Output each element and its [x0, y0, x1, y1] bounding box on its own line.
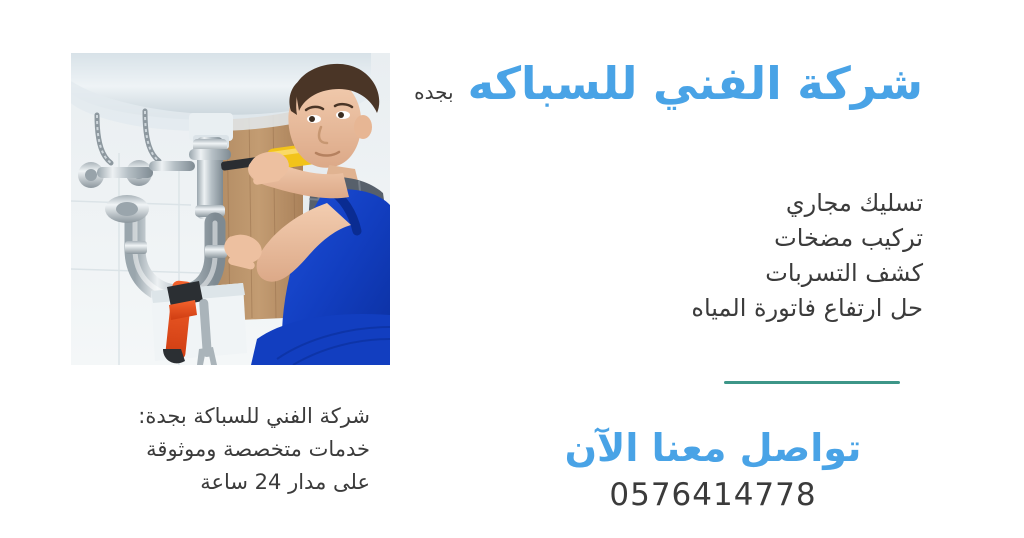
caption-line: على مدار 24 ساعة [50, 466, 370, 499]
service-item: حل ارتفاع فاتورة المياه [503, 291, 923, 326]
section-divider [724, 381, 900, 384]
plumber-under-sink-photo [71, 53, 390, 365]
cta-heading: تواصل معنا الآن [503, 424, 923, 472]
caption-line: شركة الفني للسباكة بجدة: [50, 400, 370, 433]
contact-cta: تواصل معنا الآن 0576414778 [503, 424, 923, 514]
advertisement-canvas: شركة الفني للسباكه بجده تسليك مجاري تركي… [0, 0, 1024, 538]
caption-block: شركة الفني للسباكة بجدة: خدمات متخصصة وم… [50, 400, 370, 499]
caption-line: خدمات متخصصة وموثوقة [50, 433, 370, 466]
service-item: تسليك مجاري [503, 186, 923, 221]
plumber-photo-illustration [71, 53, 390, 365]
company-city: بجده [414, 82, 453, 102]
service-item: كشف التسربات [503, 256, 923, 291]
service-item: تركيب مضخات [503, 221, 923, 256]
company-name: شركة الفني للسباكه [468, 61, 923, 106]
phone-number[interactable]: 0576414778 [503, 476, 923, 514]
headline: شركة الفني للسباكه بجده [414, 61, 923, 106]
services-list: تسليك مجاري تركيب مضخات كشف التسربات حل … [503, 186, 923, 326]
